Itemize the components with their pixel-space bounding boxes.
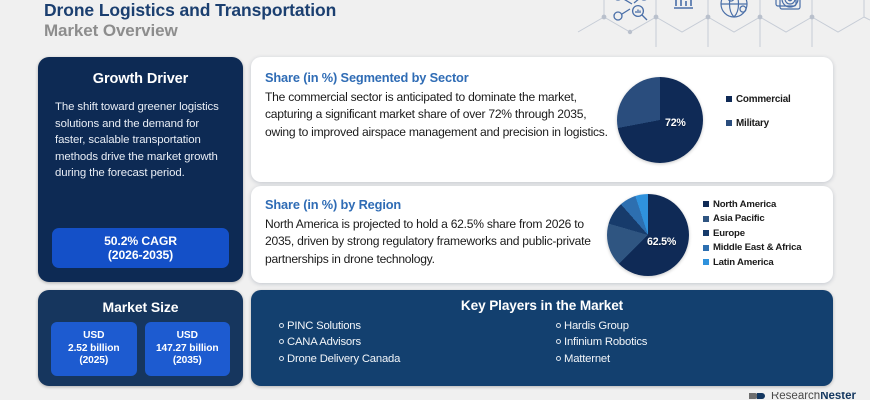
legend-item: Military	[726, 118, 791, 129]
key-player-name: Matternet	[564, 351, 610, 367]
growth-driver-body: The shift toward greener logistics solut…	[38, 87, 243, 182]
key-player-item: CANA Advisors	[279, 334, 556, 350]
legend-label: Military	[736, 118, 769, 129]
legend-item: Europe	[703, 228, 801, 239]
market-size-values: USD 2.52 billion (2025) USD 147.27 billi…	[38, 315, 243, 376]
sector-share-card: Share (in %) Segmented by Sector The com…	[251, 57, 833, 182]
market-size-box-2035: USD 147.27 billion (2035)	[145, 322, 231, 376]
legend-item: Commercial	[726, 94, 791, 105]
sector-card-heading: Share (in %) Segmented by Sector	[265, 70, 611, 85]
sector-pie-chart: 72%	[617, 77, 703, 163]
growth-driver-card: Growth Driver The shift toward greener l…	[38, 57, 243, 282]
key-player-name: CANA Advisors	[287, 334, 361, 350]
growth-driver-title: Growth Driver	[38, 71, 243, 87]
page-title: Drone Logistics and Transportation	[44, 0, 336, 20]
key-players-title: Key Players in the Market	[251, 298, 833, 313]
legend-label: North America	[713, 199, 776, 210]
legend-swatch-icon	[703, 259, 709, 265]
currency-label: USD	[83, 330, 104, 342]
market-size-card: Market Size USD 2.52 billion (2025) USD …	[38, 290, 243, 386]
circle-bullet-icon	[279, 356, 284, 361]
brand-logo: ResearchNester	[748, 392, 856, 400]
legend-label: Middle East & Africa	[713, 242, 801, 253]
brand-name: ResearchNester	[771, 392, 856, 400]
currency-label: USD	[177, 330, 198, 342]
key-player-name: Infinium Robotics	[564, 334, 647, 350]
brand-name-post: Nester	[820, 392, 856, 400]
sector-pie-legend: CommercialMilitary	[726, 94, 791, 142]
key-player-item: Hardis Group	[556, 318, 833, 334]
key-player-item: Infinium Robotics	[556, 334, 833, 350]
hexagon-decoration	[570, 0, 870, 50]
sector-card-body: The commercial sector is anticipated to …	[265, 89, 611, 141]
radar-target-icon	[776, 0, 800, 9]
cagr-value: 50.2% CAGR	[104, 234, 177, 249]
legend-label: Europe	[713, 228, 745, 239]
key-player-name: Hardis Group	[564, 318, 629, 334]
region-card-body: North America is projected to hold a 62.…	[265, 216, 603, 268]
infographic-canvas: Drone Logistics and Transportation Marke…	[0, 0, 870, 400]
value-label: 147.27 billion	[156, 343, 219, 355]
legend-label: Asia Pacific	[713, 213, 764, 224]
legend-swatch-icon	[726, 120, 732, 126]
circle-bullet-icon	[279, 339, 284, 344]
market-size-box-2025: USD 2.52 billion (2025)	[51, 322, 137, 376]
legend-item: Middle East & Africa	[703, 242, 801, 253]
legend-swatch-icon	[726, 96, 732, 102]
cagr-badge: 50.2% CAGR (2026-2035)	[52, 228, 229, 268]
legend-item: Asia Pacific	[703, 213, 801, 224]
legend-item: Latin America	[703, 257, 801, 268]
logo-mark-icon	[748, 392, 767, 400]
cagr-period: (2026-2035)	[108, 248, 173, 263]
key-player-name: PINC Solutions	[287, 318, 361, 334]
circle-bullet-icon	[556, 356, 561, 361]
market-size-title: Market Size	[38, 299, 243, 315]
legend-label: Latin America	[713, 257, 774, 268]
key-player-item: PINC Solutions	[279, 318, 556, 334]
key-player-item: Drone Delivery Canada	[279, 351, 556, 367]
bar-chart-icon	[674, 0, 693, 8]
legend-swatch-icon	[703, 201, 709, 207]
year-label: (2035)	[173, 355, 202, 367]
circle-bullet-icon	[556, 339, 561, 344]
region-card-heading: Share (in %) by Region	[265, 197, 603, 212]
key-players-column-left: PINC SolutionsCANA AdvisorsDrone Deliver…	[279, 318, 556, 367]
legend-swatch-icon	[703, 230, 709, 236]
globe-location-icon	[721, 0, 748, 17]
legend-item: North America	[703, 199, 801, 210]
network-people-icon	[614, 0, 648, 20]
region-pie-chart: 62.5%	[607, 194, 689, 276]
footer-contact: Website: www.researchnester.com | Email:…	[44, 393, 684, 400]
key-player-item: Matternet	[556, 351, 833, 367]
region-pie-data-label: 62.5%	[647, 236, 676, 248]
key-players-card: Key Players in the Market PINC Solutions…	[251, 290, 833, 386]
brand-name-pre: Research	[771, 392, 820, 400]
legend-swatch-icon	[703, 245, 709, 251]
legend-label: Commercial	[736, 94, 791, 105]
circle-bullet-icon	[556, 323, 561, 328]
region-share-card: Share (in %) by Region North America is …	[251, 186, 833, 283]
sector-pie-data-label: 72%	[665, 117, 686, 129]
circle-bullet-icon	[279, 323, 284, 328]
region-pie-legend: North AmericaAsia PacificEuropeMiddle Ea…	[703, 199, 801, 272]
legend-swatch-icon	[703, 216, 709, 222]
key-players-column-right: Hardis GroupInfinium RoboticsMatternet	[556, 318, 833, 367]
page-title-group: Drone Logistics and Transportation Marke…	[44, 0, 336, 41]
page-subtitle: Market Overview	[44, 20, 336, 41]
year-label: (2025)	[79, 355, 108, 367]
value-label: 2.52 billion	[68, 343, 119, 355]
key-player-name: Drone Delivery Canada	[287, 351, 400, 367]
